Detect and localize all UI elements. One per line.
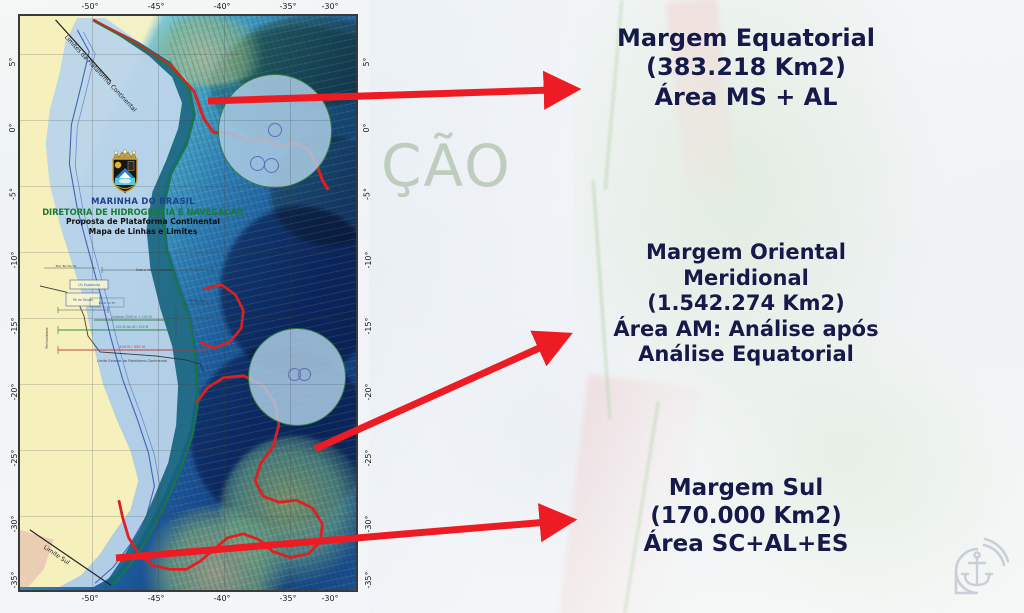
lat-tick-left-4: -15° [10,317,19,334]
lon-tick-bot-4: -30° [321,594,338,603]
map-frame: ✶ MARINHA DO BRASIL DIRETORIA DE HIDROGR… [18,14,358,592]
lat-tick-right-4: -15° [364,317,373,334]
island-marker-north [268,123,282,137]
map-title-line-3: Proposta de Plataforma Continental [38,217,248,227]
callout-equatorial-line-3: Área MS + AL [566,83,926,112]
lat-tick-right-3: -10° [364,251,373,268]
lon-tick-bot-2: -40° [213,594,230,603]
callout-equatorial-line-1: Margem Equatorial [566,24,926,53]
lat-tick-left-5: -20° [10,383,19,400]
callout-margem-oriental-meridional: Margem Oriental Meridional (1.542.274 Km… [566,240,926,368]
svg-text:Mar Territorial: Mar Territorial [56,264,77,268]
lat-tick-left-0: 5° [8,57,17,66]
lat-tick-right-2: -5° [362,188,371,200]
watermark-text: ÇÃO [381,132,512,200]
lat-tick-right-0: 5° [362,57,371,66]
callout-sul-line-1: Margem Sul [566,474,926,502]
lat-tick-left-8: -35° [10,571,19,588]
lat-tick-left-7: -30° [10,515,19,532]
callout-sul-line-2: (170.000 Km2) [566,502,926,530]
svg-text:Limite Exterior da Plataforma: Limite Exterior da Plataforma Continenta… [97,359,168,363]
map-title-line-4: Mapa de Linhas e Limites [38,227,248,237]
callout-oriental-line-1: Margem Oriental [566,240,926,266]
lat-tick-left-6: -25° [10,449,19,466]
anchor-signal-logo-icon [948,537,1010,603]
callout-margem-equatorial: Margem Equatorial (383.218 Km2) Área MS … [566,24,926,112]
callout-oriental-line-3: (1.542.274 Km2) [566,291,926,317]
brazilian-navy-coat-of-arms-icon: ✶ [108,148,142,194]
lat-tick-left-1: 0° [8,123,17,132]
shelf-profile-diagram: 200 M / 350 M Limite Exterior da Platafo… [36,260,218,372]
callout-sul-line-3: Área SC+AL+ES [566,530,926,558]
lat-tick-right-1: 0° [362,123,371,132]
slide-canvas: ÇÃO [0,0,1024,613]
lat-tick-left-3: -10° [10,251,19,268]
svg-text:200 M / 350 M: 200 M / 350 M [119,345,145,349]
island-marker-mid-b [298,368,311,381]
lon-tick-top-0: -50° [81,2,98,11]
callout-oriental-line-5: Análise Equatorial [566,342,926,368]
lon-tick-bot-0: -50° [81,594,98,603]
lat-tick-right-6: -25° [364,449,373,466]
island-marker-ne-a [250,156,265,171]
lat-tick-right-5: -20° [364,383,373,400]
map-title-line-2: DIRETORIA DE HIDROGRAFIA E NAVEGAÇÃO [38,207,248,218]
callout-oriental-line-2: Meridional [566,266,926,292]
svg-text:60 M do PT: 60 M do PT [99,301,116,305]
svg-text:1% Espessura: 1% Espessura [78,283,100,287]
callout-margem-sul: Margem Sul (170.000 Km2) Área SC+AL+ES [566,474,926,558]
lon-tick-top-3: -35° [279,2,296,11]
map-panel[interactable]: ✶ MARINHA DO BRASIL DIRETORIA DE HIDROGR… [12,0,364,606]
lat-tick-right-7: -30° [364,515,373,532]
lat-tick-right-8: -35° [364,571,373,588]
lon-tick-top-4: -30° [321,2,338,11]
callout-equatorial-line-2: (383.218 Km2) [566,53,926,82]
svg-text:Fundo Mar: Fundo Mar [189,299,206,303]
map-title-block: MARINHA DO BRASIL DIRETORIA DE HIDROGRAF… [38,196,248,237]
lat-tick-left-2: -5° [8,188,17,200]
lon-tick-bot-3: -35° [279,594,296,603]
svg-text:Profundidade: Profundidade [45,327,49,348]
svg-text:Pé do Talude: Pé do Talude [73,298,93,302]
lon-tick-top-1: -45° [147,2,164,11]
callout-oriental-line-4: Área AM: Análise após [566,317,926,343]
map-canvas: ✶ MARINHA DO BRASIL DIRETORIA DE HIDROGR… [20,16,356,590]
lon-tick-bot-1: -45° [147,594,164,603]
map-title-line-1: MARINHA DO BRASIL [38,196,248,207]
lon-tick-top-2: -40° [213,2,230,11]
svg-text:200 M da LB / 100 M: 200 M da LB / 100 M [116,325,149,329]
svg-text:Isóbata 2500 m + 100 M: Isóbata 2500 m + 100 M [112,315,152,319]
island-marker-ne-b [264,158,279,173]
svg-text:✶: ✶ [123,190,126,194]
svg-text:Área a ser incorporada: Área a ser incorporada [136,267,172,272]
